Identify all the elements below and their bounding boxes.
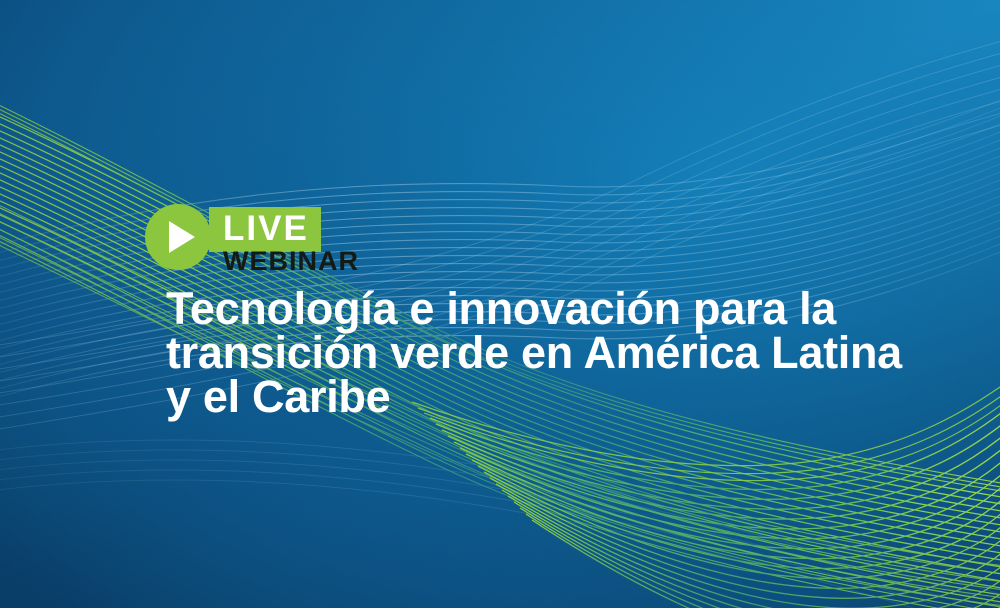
title-line-3: y el Caribe (166, 375, 966, 419)
live-webinar-banner: LIVE WEBINAR Tecnología e innovación par… (0, 0, 1000, 608)
page-title: Tecnología e innovación para la transici… (166, 287, 966, 419)
play-triangle-glyph (169, 221, 195, 253)
title-line-1: Tecnología e innovación para la (166, 287, 966, 331)
play-icon[interactable] (145, 204, 211, 270)
webinar-label: WEBINAR (223, 248, 359, 275)
title-line-2: transición verde en América Latina (166, 331, 966, 375)
live-webinar-badge: LIVE WEBINAR (145, 204, 505, 284)
live-label: LIVE (223, 211, 309, 246)
